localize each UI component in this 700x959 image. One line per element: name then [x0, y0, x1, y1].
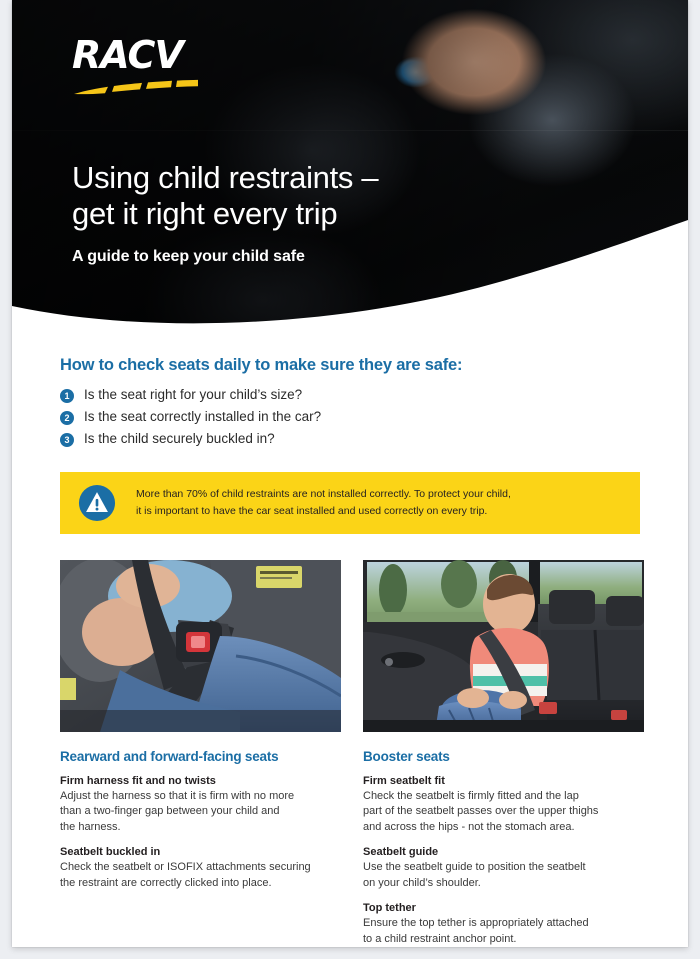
hero-title: Using child restraints – get it right ev… — [72, 160, 502, 232]
tip-title: Firm seatbelt fit — [363, 774, 644, 789]
column-photo-harness — [60, 560, 341, 732]
tip-title: Seatbelt buckled in — [60, 845, 341, 860]
tip-title: Top tether — [363, 901, 644, 916]
warning-callout: More than 70% of child restraints are no… — [60, 472, 640, 534]
checks-list: 1 Is the seat right for your child’s siz… — [60, 386, 640, 449]
tip-block: Firm harness fit and no twists Adjust th… — [60, 774, 341, 836]
tip-block: Seatbelt buckled in Check the seatbelt o… — [60, 845, 341, 891]
list-item-label: Is the seat correctly installed in the c… — [84, 408, 321, 426]
tip-body: Ensure the top tether is appropriately a… — [363, 916, 644, 947]
hero-text-block: Using child restraints – get it right ev… — [72, 160, 502, 266]
checks-heading: How to check seats daily to make sure th… — [60, 356, 640, 375]
column-heading: Booster seats — [363, 749, 644, 764]
tip-block: Seatbelt guide Use the seatbelt guide to… — [363, 845, 644, 891]
tip-body: Use the seatbelt guide to position the s… — [363, 860, 644, 891]
racv-logo: RACV — [72, 36, 202, 95]
list-item: 1 Is the seat right for your child’s siz… — [60, 386, 640, 404]
column-photo-booster — [363, 560, 644, 732]
tip-body: Adjust the harness so that it is firm wi… — [60, 789, 341, 836]
racv-swoosh-icon — [72, 77, 200, 95]
tip-title: Firm harness fit and no twists — [60, 774, 341, 789]
tip-title: Seatbelt guide — [363, 845, 644, 860]
warning-callout-text: More than 70% of child restraints are no… — [136, 486, 511, 519]
list-item-label: Is the seat right for your child’s size? — [84, 386, 302, 404]
tip-body: Check the seatbelt is firmly fitted and … — [363, 789, 644, 836]
warning-triangle-icon — [78, 484, 116, 522]
list-item-number: 3 — [60, 433, 74, 447]
racv-logo-text: RACV — [72, 36, 202, 74]
list-item-number: 2 — [60, 411, 74, 425]
column-booster-seats: Booster seats Firm seatbelt fit Check th… — [363, 560, 644, 947]
column-heading: Rearward and forward-facing seats — [60, 749, 341, 764]
tip-block: Top tether Ensure the top tether is appr… — [363, 901, 644, 947]
list-item-number: 1 — [60, 389, 74, 403]
list-item-label: Is the child securely buckled in? — [84, 430, 275, 448]
list-item: 2 Is the seat correctly installed in the… — [60, 408, 640, 426]
info-columns: Rearward and forward-facing seats Firm h… — [60, 560, 640, 947]
brochure-page: RACV Using child restraints – get it rig… — [12, 0, 688, 947]
hero-subtitle: A guide to keep your child safe — [72, 248, 502, 266]
tip-block: Firm seatbelt fit Check the seatbelt is … — [363, 774, 644, 836]
content-area: How to check seats daily to make sure th… — [12, 356, 688, 947]
hero-banner: RACV Using child restraints – get it rig… — [12, 0, 688, 332]
column-rearward-forward-facing: Rearward and forward-facing seats Firm h… — [60, 560, 341, 947]
list-item: 3 Is the child securely buckled in? — [60, 430, 640, 448]
tip-body: Check the seatbelt or ISOFIX attachments… — [60, 860, 341, 891]
